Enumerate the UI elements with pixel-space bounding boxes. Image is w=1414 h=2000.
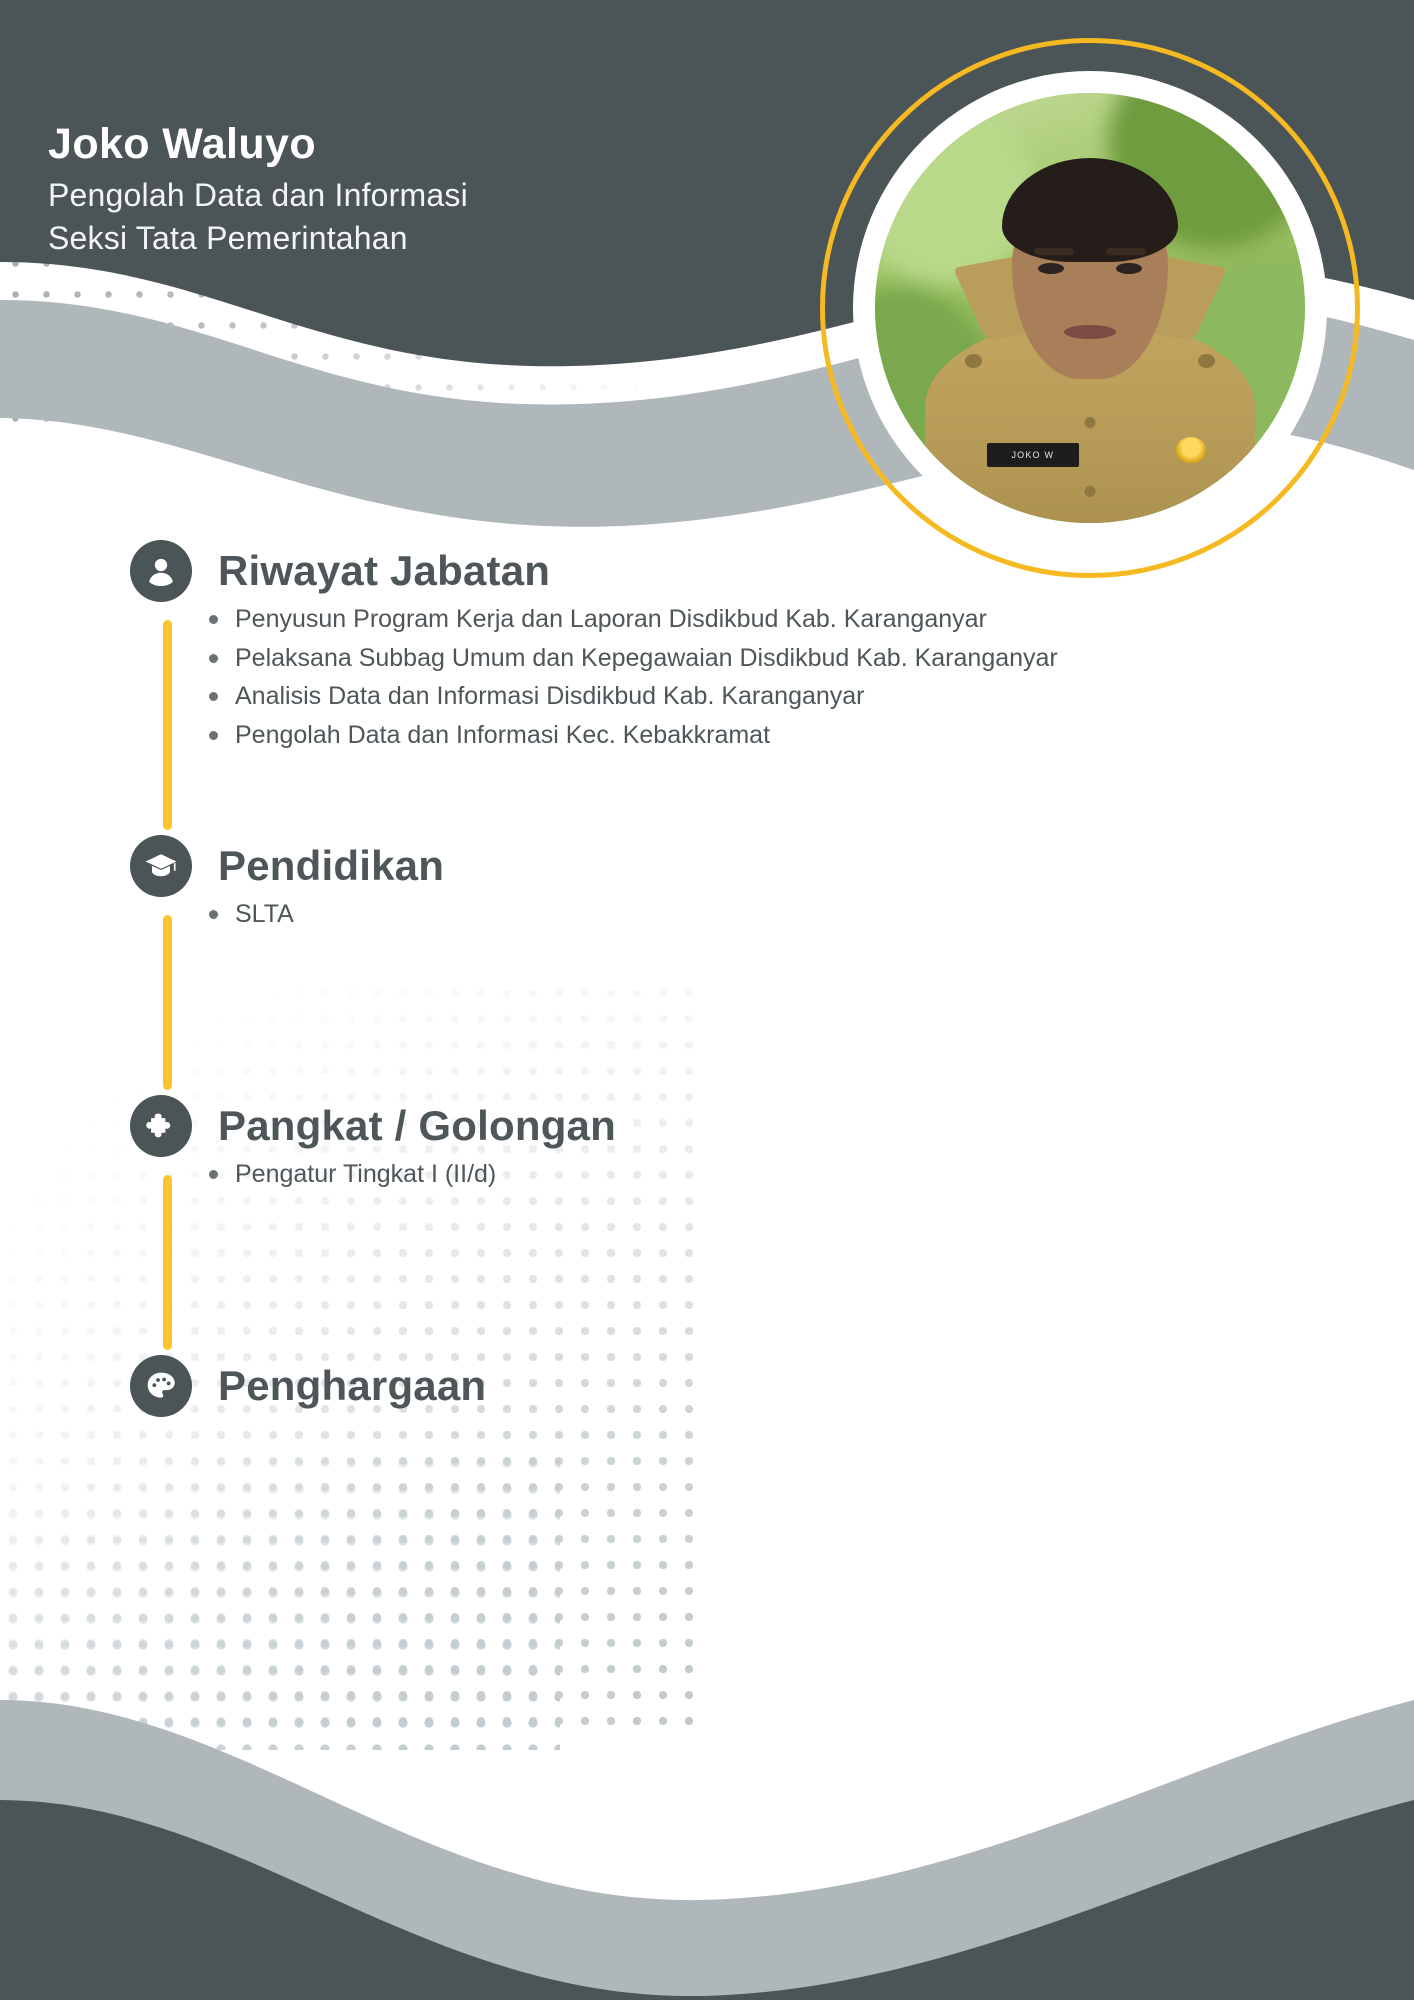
bullet-dot (209, 654, 218, 663)
photo-mouth (1064, 325, 1116, 339)
list-item: Analisis Data dan Informasi Disdikbud Ka… (235, 679, 1265, 718)
section-pendidikan: Pendidikan SLTA (0, 835, 1414, 1095)
section-riwayat-jabatan: Riwayat Jabatan Penyusun Program Kerja d… (0, 540, 1414, 835)
section-list: Pengatur Tingkat I (II/d) (163, 1157, 1414, 1196)
accent-bar (163, 915, 172, 1090)
timeline: Riwayat Jabatan Penyusun Program Kerja d… (0, 540, 1414, 1417)
header-identity: Joko Waluyo Pengolah Data dan Informasi … (48, 120, 468, 259)
person-position: Pengolah Data dan Informasi (48, 174, 468, 217)
photo-epaulette-right (1198, 354, 1215, 368)
list-item-text: Analisis Data dan Informasi Disdikbud Ka… (235, 682, 865, 710)
person-icon (130, 540, 192, 602)
bullet-dot (209, 731, 218, 740)
section-pangkat-golongan: Pangkat / Golongan Pengatur Tingkat I (I… (0, 1095, 1414, 1355)
profile-card: Joko Waluyo Pengolah Data dan Informasi … (0, 0, 1414, 2000)
list-item: Pelaksana Subbag Umum dan Kepegawaian Di… (235, 641, 1265, 680)
photo-button-upper (1085, 417, 1096, 428)
section-header: Penghargaan (0, 1355, 1414, 1417)
section-title: Pendidikan (218, 845, 444, 887)
section-body: Penyusun Program Kerja dan Laporan Disdi… (0, 602, 1414, 756)
bullet-dot (209, 692, 218, 701)
graduation-cap-icon (130, 835, 192, 897)
accent-bar (163, 1175, 172, 1350)
section-body: SLTA (0, 897, 1414, 936)
list-item: SLTA (235, 897, 1265, 936)
photo-brow-left (1034, 248, 1074, 255)
list-item: Pengolah Data dan Informasi Kec. Kebakkr… (235, 718, 1265, 757)
section-header: Pangkat / Golongan (0, 1095, 1414, 1157)
person-unit: Seksi Tata Pemerintahan (48, 217, 468, 260)
list-item-text: Pengolah Data dan Informasi Kec. Kebakkr… (235, 721, 770, 749)
person-name: Joko Waluyo (48, 120, 468, 168)
list-item-text: SLTA (235, 900, 294, 928)
photo-button-lower (1085, 486, 1096, 497)
section-header: Pendidikan (0, 835, 1414, 897)
photo-name-tag: JOKO W (987, 443, 1079, 467)
section-body: Pengatur Tingkat I (II/d) (0, 1157, 1414, 1196)
list-item: Pengatur Tingkat I (II/d) (235, 1157, 1265, 1196)
photo-eye-left (1038, 263, 1064, 274)
accent-bar (163, 620, 172, 830)
section-title: Pangkat / Golongan (218, 1105, 616, 1147)
section-penghargaan: Penghargaan (0, 1355, 1414, 1417)
bullet-dot (209, 615, 218, 624)
photo-eye-right (1116, 263, 1142, 274)
puzzle-piece-icon (130, 1095, 192, 1157)
bullet-dot (209, 910, 218, 919)
photo-insignia-icon (1176, 437, 1206, 463)
photo-brow-right (1106, 248, 1146, 255)
list-item-text: Pelaksana Subbag Umum dan Kepegawaian Di… (235, 644, 1058, 672)
avatar-photo: JOKO W (875, 93, 1305, 523)
section-list: SLTA (163, 897, 1414, 936)
avatar: JOKO W (820, 38, 1360, 578)
section-title: Penghargaan (218, 1365, 486, 1407)
section-list: Penyusun Program Kerja dan Laporan Disdi… (163, 602, 1414, 756)
list-item-text: Pengatur Tingkat I (II/d) (235, 1160, 496, 1188)
section-title: Riwayat Jabatan (218, 550, 550, 592)
list-item-text: Penyusun Program Kerja dan Laporan Disdi… (235, 605, 987, 633)
list-item: Penyusun Program Kerja dan Laporan Disdi… (235, 602, 1265, 641)
bullet-dot (209, 1170, 218, 1179)
palette-icon (130, 1355, 192, 1417)
